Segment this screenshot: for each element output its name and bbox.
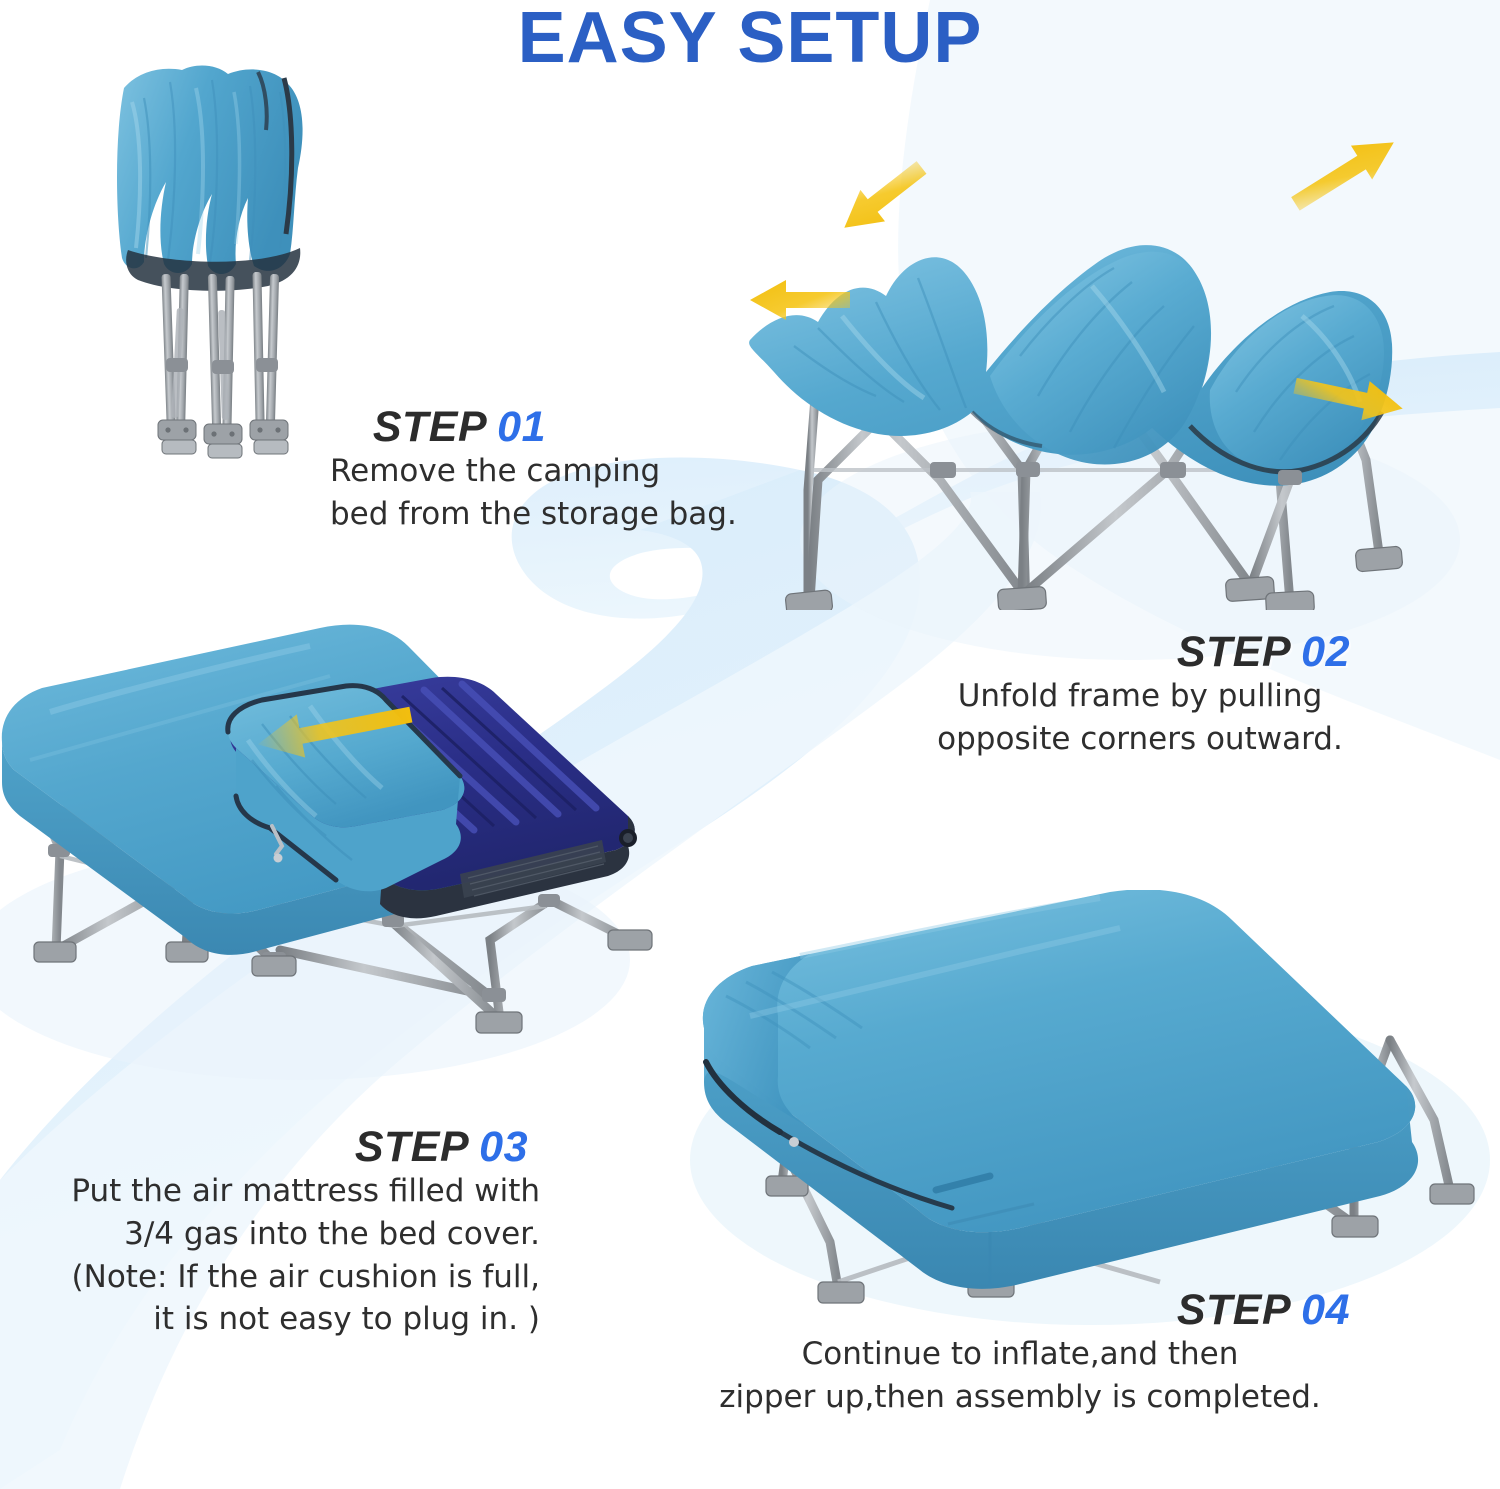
step-01-heading: STEP01 (330, 405, 550, 450)
step-01-word: STEP (373, 403, 487, 451)
folded-fabric-bundle (117, 65, 303, 290)
step-01-block: STEP01 Remove the camping bed from the s… (330, 405, 550, 536)
infographic-canvas: EASY SETUP (0, 0, 1500, 1489)
step-04-block: STEP04 Continue to inflate,and then zipp… (690, 1288, 1350, 1419)
bed-feet (34, 930, 652, 1033)
step-01-description: Remove the camping bed from the storage … (330, 450, 550, 536)
arrow-top-left (832, 152, 934, 244)
unfolding-frame-illustration (690, 140, 1410, 610)
step-04-heading: STEP04 (690, 1288, 1350, 1333)
arrow-top-right (1285, 140, 1405, 221)
inflated-bed-cover (703, 890, 1418, 1289)
completed-camping-bed-illustration (690, 890, 1480, 1320)
step-04-description: Continue to inflate,and then zipper up,t… (690, 1333, 1350, 1419)
step-02-number: 02 (1301, 628, 1350, 676)
step-02-description: Unfold frame by pulling opposite corners… (930, 675, 1350, 761)
air-mattress-insert-illustration (0, 620, 720, 1060)
folded-frame-legs (158, 272, 288, 458)
frame-feet (785, 546, 1403, 610)
step-03-heading: STEP03 (10, 1125, 540, 1170)
step-04-number: 04 (1301, 1286, 1350, 1334)
step-02-heading: STEP02 (930, 630, 1350, 675)
step-03-block: STEP03 Put the air mattress filled with … (10, 1125, 540, 1341)
page-title: EASY SETUP (0, 2, 1500, 74)
step-04-word: STEP (1177, 1286, 1291, 1334)
step-03-description: Put the air mattress filled with 3/4 gas… (10, 1170, 540, 1341)
step-02-word: STEP (1177, 628, 1291, 676)
step-03-word: STEP (355, 1123, 469, 1171)
step-02-block: STEP02 Unfold frame by pulling opposite … (930, 630, 1350, 761)
folded-camping-bed-illustration (108, 58, 338, 463)
step-03-number: 03 (479, 1123, 528, 1171)
step-01-number: 01 (497, 403, 546, 451)
